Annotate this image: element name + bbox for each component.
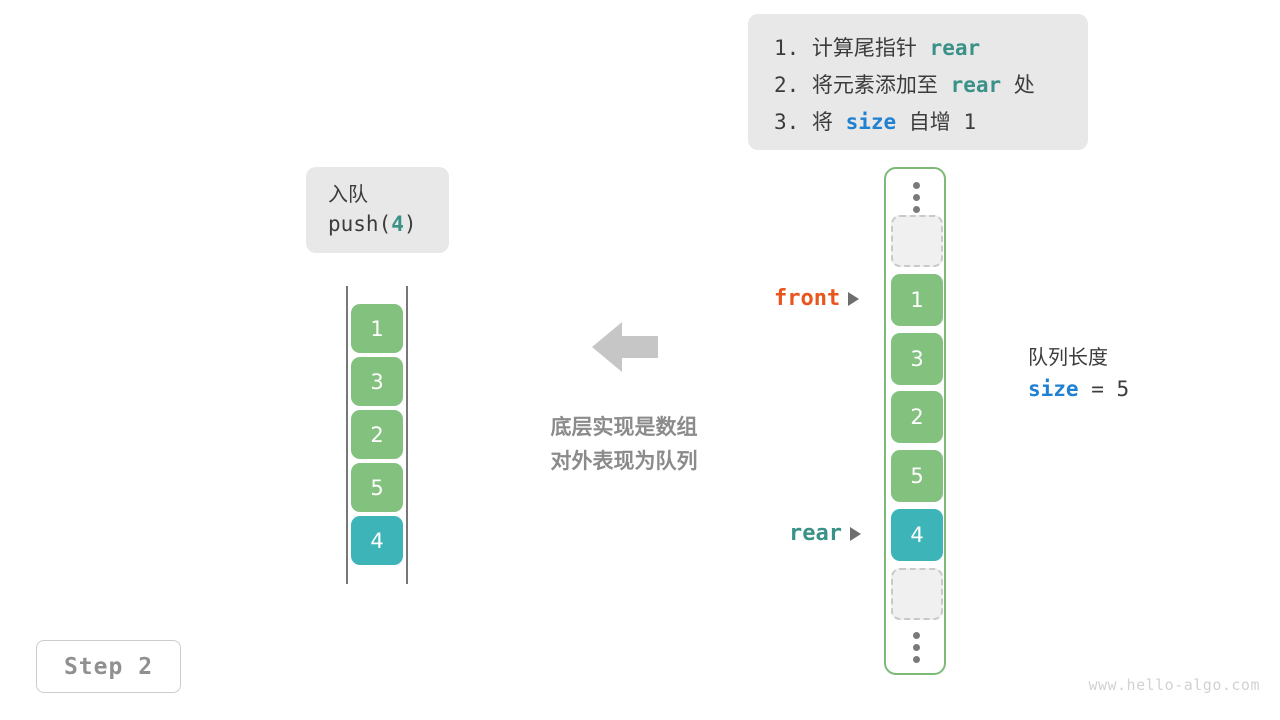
operation-code-prefix: push( [328,212,391,236]
front-pointer-label: front [774,286,859,311]
instruction-line-3-suffix: 自增 1 [896,110,976,134]
queue-cell: 2 [351,410,403,459]
queue-cell-new: 4 [351,516,403,565]
instruction-line-2-prefix: 2. 将元素添加至 [774,73,951,97]
size-annotation-code: size = 5 [1028,373,1129,405]
operation-code-suffix: ) [404,212,417,236]
instruction-line-1-prefix: 1. 计算尾指针 [774,36,930,60]
instruction-line-3-prefix: 3. 将 [774,110,846,134]
instruction-box: 1. 计算尾指针 rear 2. 将元素添加至 rear 处 3. 将 size… [748,14,1088,150]
operation-label-cn: 入队 [328,179,449,209]
queue-cell: 1 [351,304,403,353]
left-arrow-icon [592,322,658,372]
queue-cell: 5 [351,463,403,512]
arrow-right-icon [848,292,859,306]
size-annotation: 队列长度 size = 5 [1028,341,1129,405]
array-container: 1 3 2 5 4 [884,167,946,675]
ellipsis-dots-bottom [912,632,920,663]
queue-rail-right [406,286,408,584]
caption-line-2: 对外表现为队列 [498,444,750,478]
instruction-line-1: 1. 计算尾指针 rear [774,30,1088,67]
array-cell-new: 4 [891,509,943,561]
caption-text: 底层实现是数组 对外表现为队列 [498,410,750,478]
ellipsis-dots-top [912,182,920,213]
array-cell: 3 [891,333,943,385]
caption-line-1: 底层实现是数组 [498,410,750,444]
queue-rail-left [346,286,348,584]
front-pointer-text: front [774,286,840,311]
size-equals: = [1079,377,1117,401]
instruction-line-3: 3. 将 size 自增 1 [774,104,1088,141]
size-value: 5 [1117,377,1130,401]
array-cell-empty [891,568,943,620]
array-cell-empty [891,215,943,267]
queue-cell: 3 [351,357,403,406]
step-badge: Step 2 [36,640,181,693]
array-cell: 5 [891,450,943,502]
instruction-line-1-code: rear [930,36,981,60]
arrow-right-icon [850,527,861,541]
operation-code: push(4) [328,209,449,239]
instruction-line-2: 2. 将元素添加至 rear 处 [774,67,1088,104]
array-cell: 2 [891,391,943,443]
watermark: www.hello-algo.com [1088,676,1260,694]
queue-column: 1 3 2 5 4 [346,286,408,584]
size-variable-name: size [1028,377,1079,401]
diagram-canvas: 1. 计算尾指针 rear 2. 将元素添加至 rear 处 3. 将 size… [0,0,1280,720]
size-annotation-title: 队列长度 [1028,341,1129,373]
instruction-line-3-code: size [846,110,897,134]
array-cell: 1 [891,274,943,326]
rear-pointer-label: rear [789,521,861,546]
rear-pointer-text: rear [789,521,842,546]
instruction-line-2-code: rear [951,73,1002,97]
instruction-line-2-suffix: 处 [1001,73,1035,97]
operation-label-box: 入队 push(4) [306,167,449,253]
operation-code-value: 4 [391,212,404,236]
